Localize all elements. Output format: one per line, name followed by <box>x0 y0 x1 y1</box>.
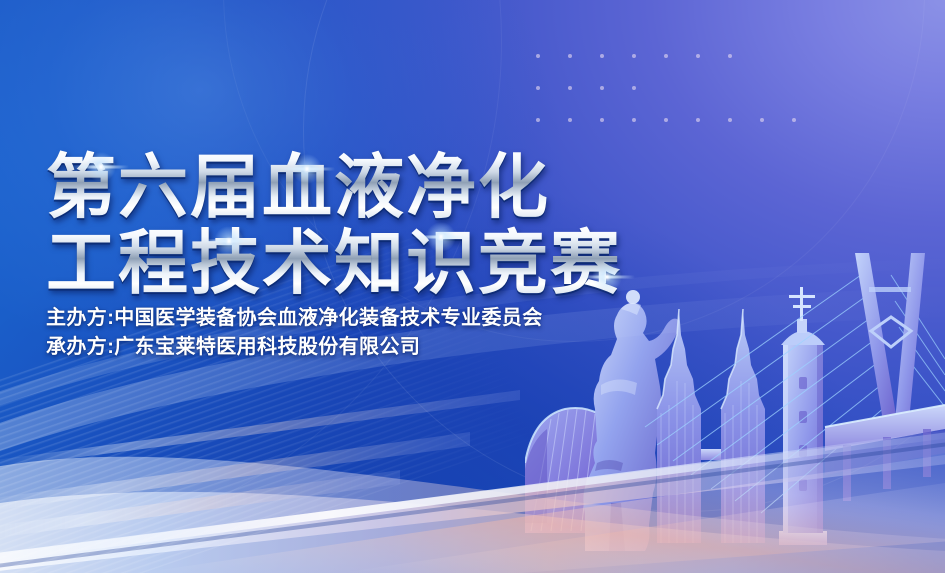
poster-subtitles: 主办方:中国医学装备协会血液净化装备技术专业委员会 承办方:广东宝莱特医用科技股… <box>46 304 543 362</box>
organizer-line: 主办方:中国医学装备协会血液净化装备技术专业委员会 <box>46 304 543 333</box>
event-poster: 第六届血液净化 工程技术知识竞赛 主办方:中国医学装备协会血液净化装备技术专业委… <box>0 0 945 573</box>
title-line-1: 第六届血液净化 <box>46 150 622 224</box>
poster-title: 第六届血液净化 工程技术知识竞赛 <box>46 150 622 300</box>
title-line-2: 工程技术知识竞赛 <box>46 226 622 300</box>
co-organizer-line: 承办方:广东宝莱特医用科技股份有限公司 <box>46 333 543 362</box>
